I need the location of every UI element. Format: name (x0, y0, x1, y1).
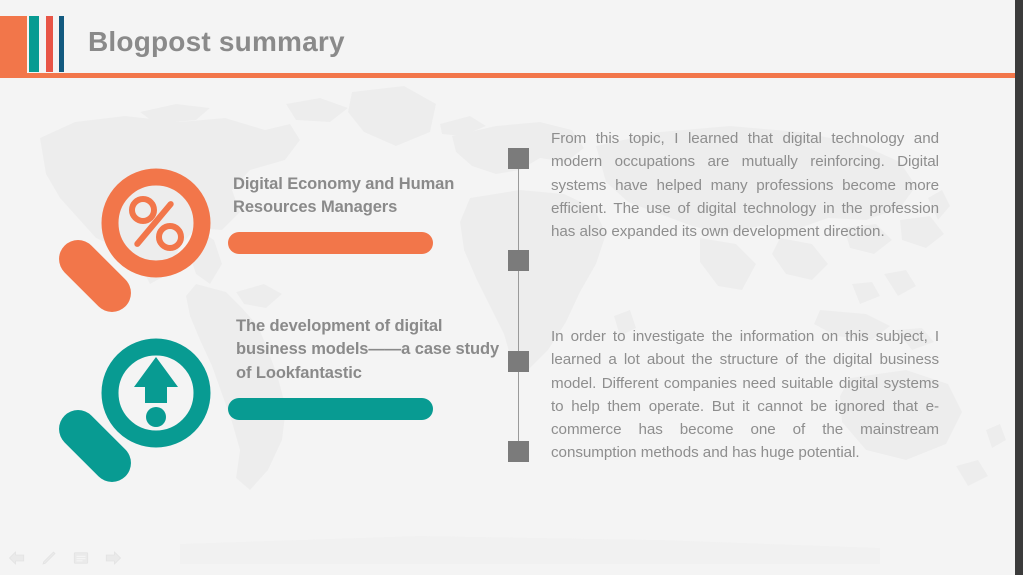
page-title: Blogpost summary (88, 26, 345, 58)
slide-right-gutter (1015, 0, 1023, 575)
bottom-toolbar (8, 549, 122, 567)
slide-header: Blogpost summary (0, 0, 1015, 78)
magnifier-arrow-up-icon (48, 335, 218, 490)
timeline-node-3 (508, 351, 529, 372)
timeline-node-2 (508, 250, 529, 271)
decoration-bar-orange (0, 16, 27, 75)
accent-pill-teal (228, 398, 433, 420)
item-heading-1: Digital Economy and Human Resources Mana… (233, 173, 508, 220)
magnifier-percent-icon (48, 165, 218, 320)
slide-canvas: Blogpost summary Digital Economy and Hum… (0, 0, 1015, 575)
decoration-bar-navy (59, 16, 64, 72)
accent-pill-orange (228, 232, 433, 254)
item-heading-2: The development of digital business mode… (236, 315, 511, 385)
decoration-bar-red (46, 16, 53, 72)
body-paragraph-1: From this topic, I learned that digital … (551, 127, 939, 243)
timeline-connector-line (518, 150, 519, 462)
arrow-left-icon[interactable] (8, 549, 26, 567)
body-paragraph-2: In order to investigate the information … (551, 325, 939, 465)
timeline-node-4 (508, 441, 529, 462)
timeline-node-1 (508, 148, 529, 169)
header-divider-rule (0, 73, 1015, 78)
pencil-icon[interactable] (40, 549, 58, 567)
arrow-right-icon[interactable] (104, 549, 122, 567)
list-icon[interactable] (72, 549, 90, 567)
decoration-bar-teal (29, 16, 39, 72)
